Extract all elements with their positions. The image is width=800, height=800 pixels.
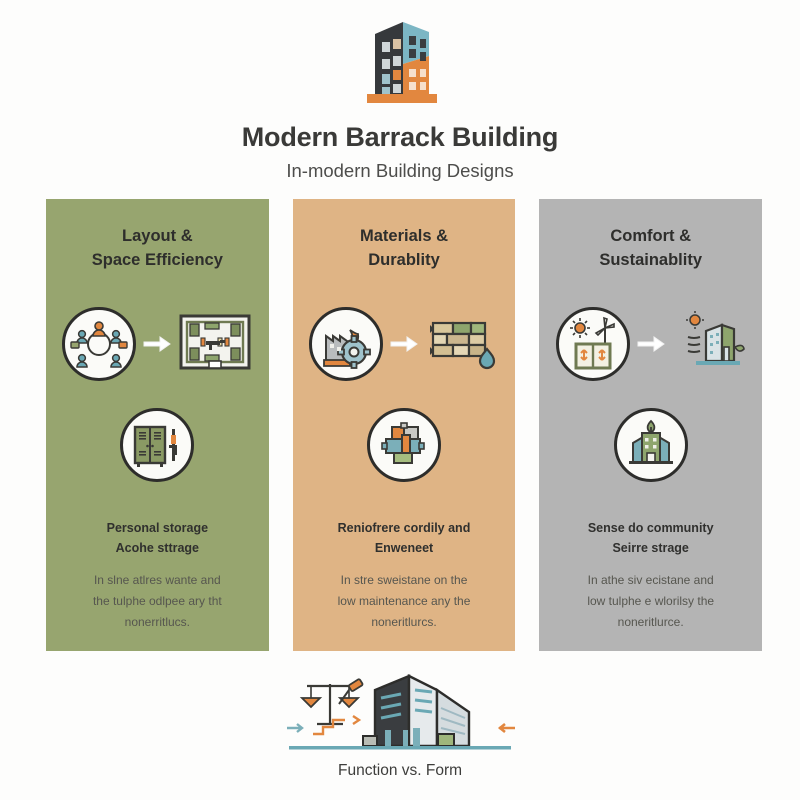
right-arrow-icon	[142, 332, 172, 356]
column-body: Sense do community Seirre strage In athe…	[549, 519, 752, 633]
eco-building-tree-icon	[614, 408, 688, 482]
modular-blocks-icon	[367, 408, 441, 482]
page-subtitle: In-modern Building Designs	[286, 160, 513, 182]
factory-gear-icon	[309, 307, 383, 381]
green-building-sun-icon	[672, 311, 746, 377]
footer-caption: Function vs. Form	[338, 762, 462, 780]
column-heading: Layout & Space Efficiency	[92, 225, 223, 273]
column-layout[interactable]: Layout & Space Efficiency	[46, 199, 269, 651]
column-heading: Comfort & Sustainablity	[599, 225, 702, 273]
page-title: Modern Barrack Building	[242, 122, 558, 153]
brick-wall-water-icon	[425, 311, 499, 377]
infographic-page: Modern Barrack Building In-modern Buildi…	[0, 0, 800, 800]
column-icon-row	[293, 301, 516, 387]
column-body-text: In athe siv ecistane and low tulphe e wl…	[549, 570, 752, 633]
column-materials[interactable]: Materials & Durablity	[293, 199, 516, 651]
column-heading: Materials & Durablity	[360, 225, 448, 273]
column-icon-row-secondary	[46, 403, 269, 487]
modern-building-logo-icon	[345, 12, 455, 108]
people-circle-icon	[62, 307, 136, 381]
column-body: Reniofrere cordily and Enweneet In stre …	[303, 519, 506, 633]
column-body-heading: Sense do community Seirre strage	[549, 519, 752, 558]
column-body-text: In slne atlres wante and the tulphe odlp…	[56, 570, 259, 633]
column-comfort[interactable]: Comfort & Sustainablity	[539, 199, 762, 651]
column-icon-row	[539, 301, 762, 387]
right-arrow-icon	[636, 332, 666, 356]
column-icon-row-secondary	[539, 403, 762, 487]
solar-wind-window-icon	[556, 307, 630, 381]
lockers-icon	[120, 408, 194, 482]
column-icon-row	[46, 301, 269, 387]
column-body-heading: Reniofrere cordily and Enweneet	[303, 519, 506, 558]
column-body-heading: Personal storage Acohe sttrage	[56, 519, 259, 558]
floor-plan-icon	[178, 311, 252, 377]
scales-and-modern-building-icon	[275, 668, 525, 752]
header: Modern Barrack Building In-modern Buildi…	[0, 12, 800, 182]
column-icon-row-secondary	[293, 403, 516, 487]
column-body: Personal storage Acohe sttrage In slne a…	[56, 519, 259, 633]
category-columns: Layout & Space Efficiency	[46, 199, 762, 651]
right-arrow-icon	[389, 332, 419, 356]
column-body-text: In stre sweistane on the low maintenance…	[303, 570, 506, 633]
footer: Function vs. Form	[0, 668, 800, 780]
